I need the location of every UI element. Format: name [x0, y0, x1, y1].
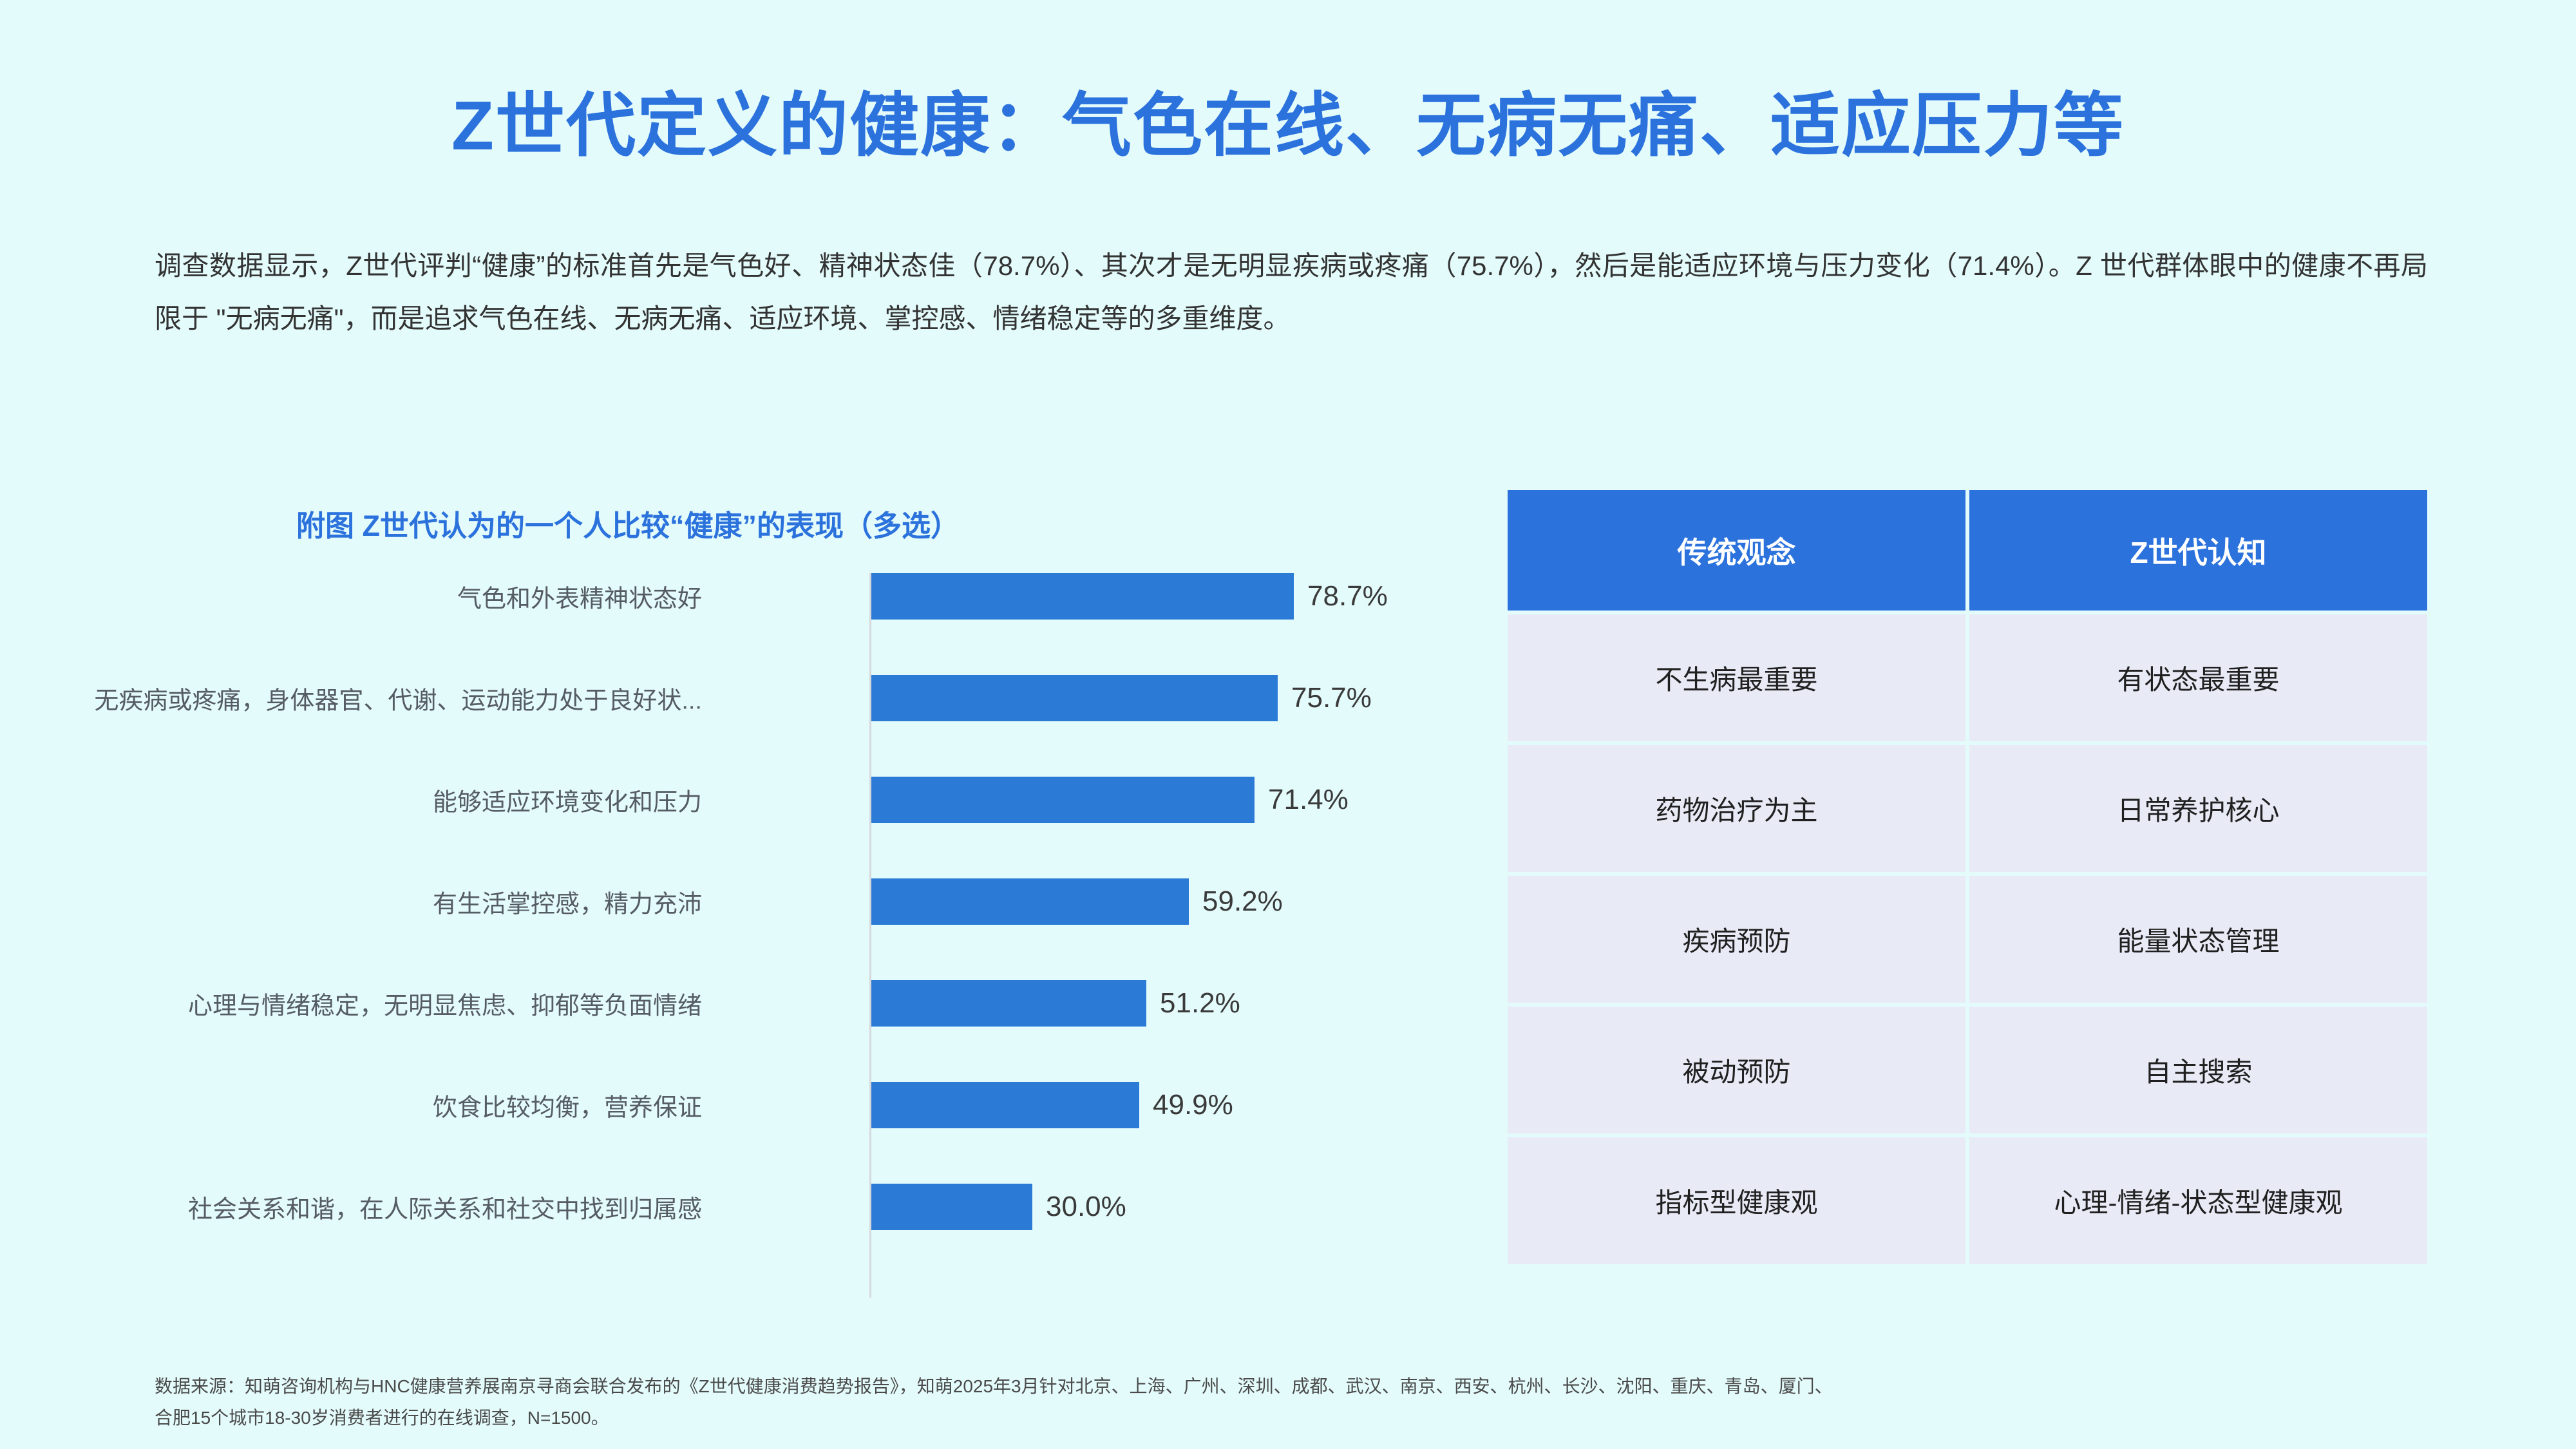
bar-row: 气色和外表精神状态好 78.7%: [97, 573, 1481, 620]
table-cell-traditional: 指标型健康观: [1508, 1137, 1965, 1264]
table-cell-genz: 能量状态管理: [1969, 876, 2427, 1003]
bar-category-label: 无疾病或疼痛，身体器官、代谢、运动能力处于良好状...: [94, 681, 702, 716]
footer-line-1: 数据来源：知萌咨询机构与HNC健康营养展南京寻商会联合发布的《Z世代健康消费趋势…: [155, 1376, 1833, 1396]
bar-value-label: 71.4%: [1268, 784, 1349, 816]
table-row: 被动预防 自主搜索: [1508, 1007, 2427, 1133]
intro-paragraph: 调查数据显示，Z世代评判“健康”的标准首先是气色好、精神状态佳（78.7%）、其…: [155, 240, 2428, 345]
table-cell-traditional: 被动预防: [1508, 1007, 1965, 1133]
bar-chart: 附图 Z世代认为的一个人比较“健康”的表现（多选） 气色和外表精神状态好 78.…: [97, 496, 1481, 1307]
table-row: 不生病最重要 有状态最重要: [1508, 614, 2427, 741]
table-row: 指标型健康观 心理-情绪-状态型健康观: [1508, 1137, 2427, 1264]
table-header-genz: Z世代认知: [1969, 490, 2427, 611]
bar-category-label: 气色和外表精神状态好: [457, 579, 702, 614]
slide-canvas: Z世代定义的健康：气色在线、无病无痛、适应压力等 调查数据显示，Z世代评判“健康…: [0, 0, 2576, 1449]
bar-category-label: 心理与情绪稳定，无明显焦虑、抑郁等负面情绪: [188, 986, 702, 1021]
bar-rect[interactable]: [871, 1184, 1032, 1230]
bar-value-label: 59.2%: [1202, 885, 1283, 918]
bar-value-label: 78.7%: [1307, 580, 1388, 612]
bar-rect[interactable]: [871, 777, 1255, 823]
bar-value-label: 49.9%: [1153, 1089, 1233, 1121]
bar-rect[interactable]: [871, 980, 1146, 1027]
table-cell-genz: 心理-情绪-状态型健康观: [1969, 1137, 2427, 1264]
bar-rect[interactable]: [871, 878, 1189, 925]
bar-rect[interactable]: [871, 573, 1294, 620]
bar-row: 能够适应环境变化和压力 71.4%: [97, 777, 1481, 823]
table-row: 疾病预防 能量状态管理: [1508, 876, 2427, 1003]
bar-rect[interactable]: [871, 675, 1278, 721]
table-header-row: 传统观念 Z世代认知: [1508, 490, 2427, 611]
chart-title: 附图 Z世代认为的一个人比较“健康”的表现（多选）: [296, 502, 960, 544]
bar-category-label: 社会关系和谐，在人际关系和社交中找到归属感: [188, 1189, 702, 1225]
bar-category-label: 能够适应环境变化和压力: [433, 782, 702, 818]
bar-row: 有生活掌控感，精力充沛 59.2%: [97, 878, 1481, 925]
bar-category-label: 有生活掌控感，精力充沛: [433, 884, 702, 920]
bar-category-label: 饮食比较均衡，营养保证: [433, 1088, 702, 1123]
bar-row: 心理与情绪稳定，无明显焦虑、抑郁等负面情绪 51.2%: [97, 980, 1481, 1027]
bar-row: 社会关系和谐，在人际关系和社交中找到归属感 30.0%: [97, 1184, 1481, 1230]
bar-value-label: 51.2%: [1160, 987, 1240, 1019]
table-cell-genz: 自主搜索: [1969, 1007, 2427, 1133]
table-cell-traditional: 药物治疗为主: [1508, 745, 1965, 872]
table-cell-traditional: 疾病预防: [1508, 876, 1965, 1003]
table-cell-traditional: 不生病最重要: [1508, 614, 1965, 741]
table-cell-genz: 有状态最重要: [1969, 614, 2427, 741]
chart-plot-area: 气色和外表精神状态好 78.7% 无疾病或疼痛，身体器官、代谢、运动能力处于良好…: [97, 573, 1481, 1307]
bar-value-label: 75.7%: [1291, 682, 1372, 714]
bar-row: 饮食比较均衡，营养保证 49.9%: [97, 1082, 1481, 1128]
footer-line-2: 合肥15个城市18-30岁消费者进行的在线调查，N=1500。: [155, 1402, 2428, 1434]
table-cell-genz: 日常养护核心: [1969, 745, 2427, 872]
data-source-footer: 数据来源：知萌咨询机构与HNC健康营养展南京寻商会联合发布的《Z世代健康消费趋势…: [155, 1370, 2428, 1434]
page-title: Z世代定义的健康：气色在线、无病无痛、适应压力等: [0, 84, 2576, 167]
bar-value-label: 30.0%: [1046, 1191, 1126, 1223]
bar-row: 无疾病或疼痛，身体器官、代谢、运动能力处于良好状... 75.7%: [97, 675, 1481, 721]
bar-rect[interactable]: [871, 1082, 1139, 1128]
table-row: 药物治疗为主 日常养护核心: [1508, 745, 2427, 872]
comparison-table: 传统观念 Z世代认知 不生病最重要 有状态最重要 药物治疗为主 日常养护核心 疾…: [1504, 486, 2431, 1268]
table-header-traditional: 传统观念: [1508, 490, 1965, 611]
